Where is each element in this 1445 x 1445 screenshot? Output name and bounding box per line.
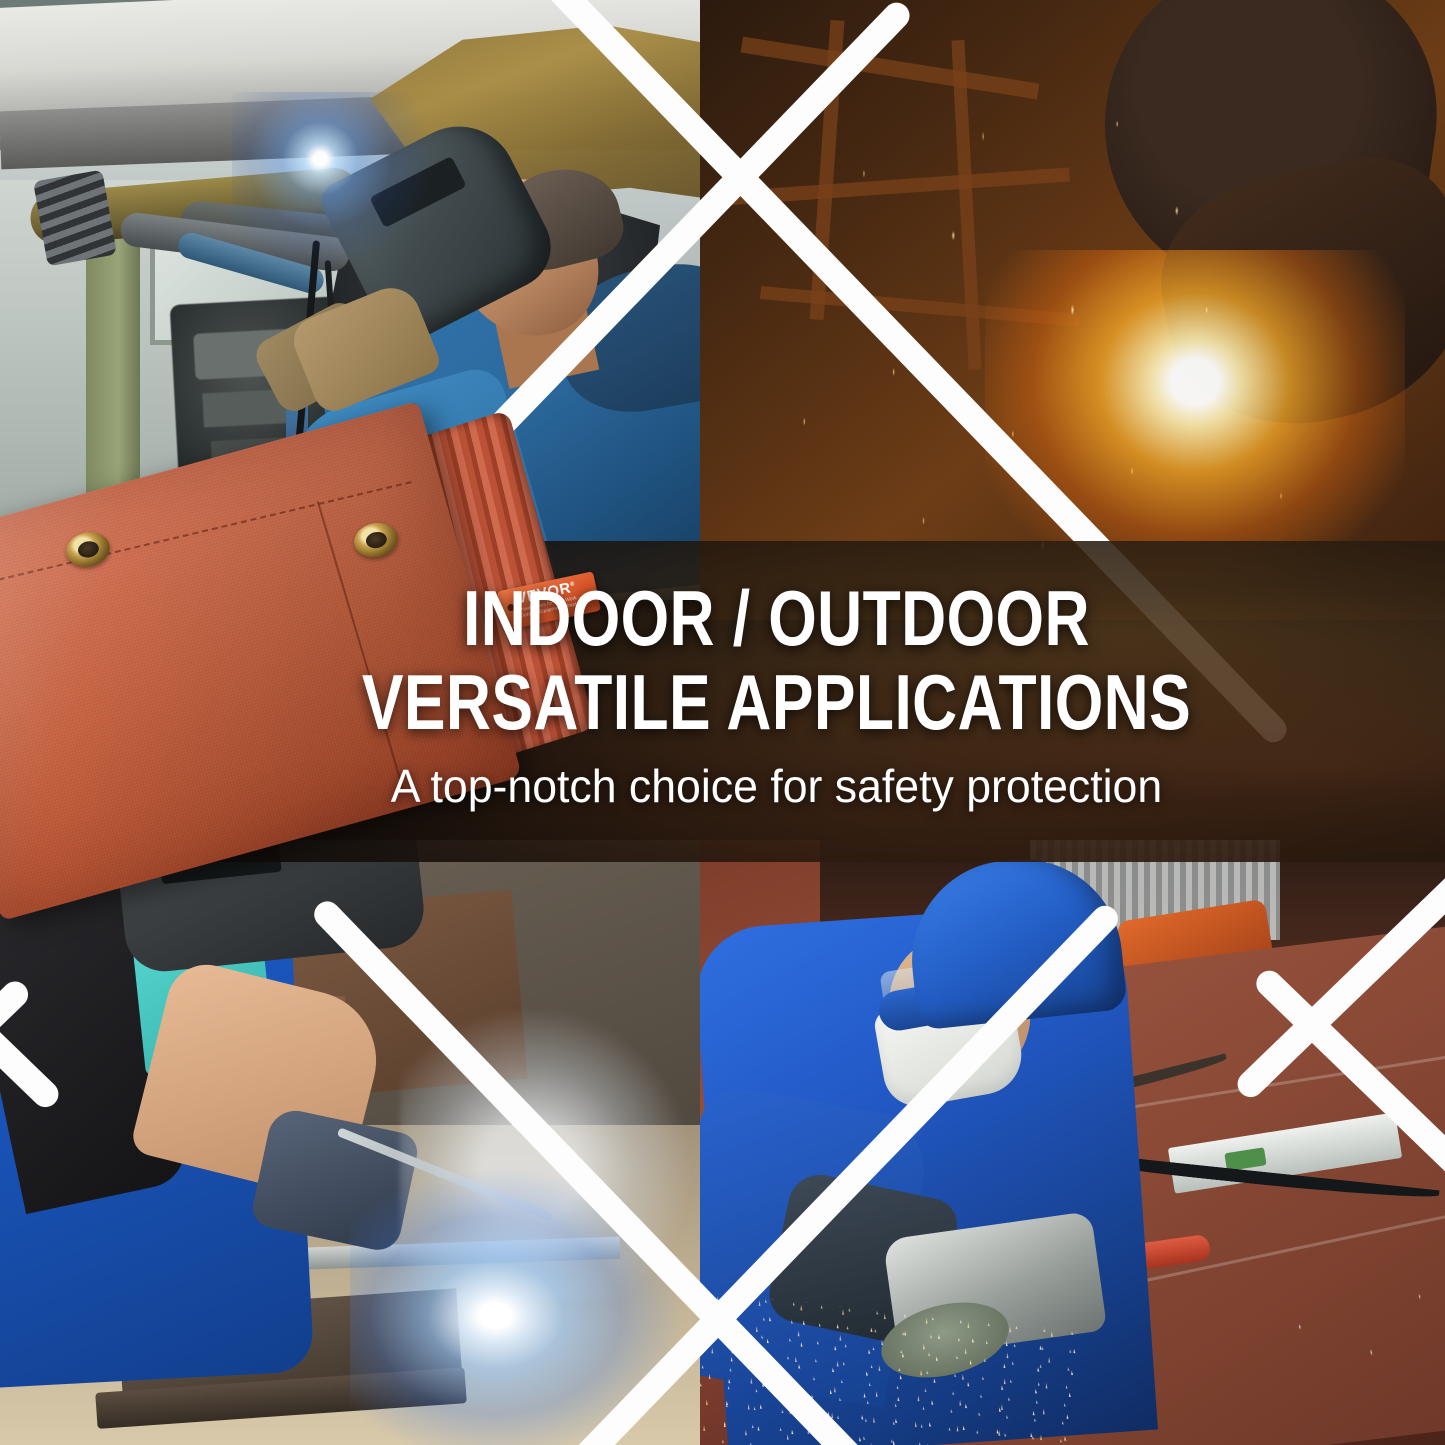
product-banner: ED ock VEVOR® Power Tools for Your Work … [0,0,1445,1445]
photo-bottom-left [0,840,760,1445]
subheadline: A top-notch choice for safety protection [128,760,1425,812]
welding-arc-flash [232,92,442,277]
headline-line-2: VERSATILE APPLICATIONS [242,660,1312,744]
headline-line-1: INDOOR / OUTDOOR [242,576,1312,660]
headline-block: INDOOR / OUTDOOR VERSATILE APPLICATIONS … [0,576,1445,812]
photo-bottom-right [700,840,1445,1445]
coil-spring [33,170,117,267]
